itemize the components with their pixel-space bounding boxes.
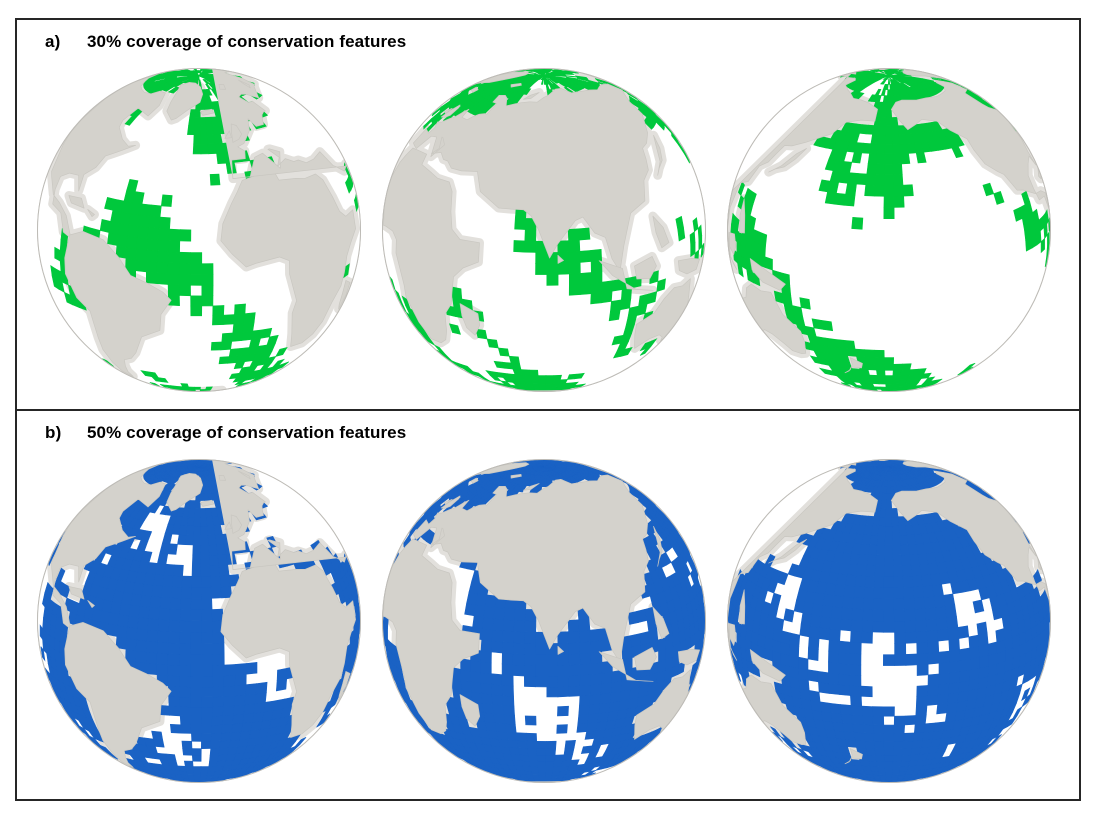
planning-unit-cell — [809, 626, 820, 639]
planning-unit-cell — [894, 598, 905, 610]
planning-unit-cell — [180, 230, 191, 242]
planning-unit-cell — [524, 643, 535, 654]
planning-unit-cell — [591, 673, 602, 685]
planning-unit-cell — [178, 535, 187, 545]
planning-unit-cell — [202, 275, 213, 286]
planning-unit-cell — [555, 755, 565, 761]
planning-unit-cell — [860, 544, 870, 555]
planning-unit-cell — [192, 566, 201, 577]
planning-unit-cell — [558, 632, 569, 644]
planning-unit-cell — [502, 685, 513, 696]
planning-unit-cell — [874, 350, 884, 357]
planning-unit-cell — [255, 692, 266, 703]
planning-unit-cell — [166, 754, 176, 761]
planning-unit-cell — [129, 214, 140, 227]
planning-unit-cell — [886, 501, 891, 509]
planning-unit-cell — [210, 755, 220, 761]
planning-unit-cell — [158, 228, 169, 240]
planning-unit-cell — [528, 748, 538, 755]
planning-unit-cell — [866, 565, 876, 576]
planning-unit-cell — [885, 555, 894, 566]
planning-unit-cell — [502, 653, 513, 665]
planning-unit-cell — [538, 376, 546, 381]
planning-unit-cell — [494, 714, 505, 724]
planning-unit-cell — [503, 631, 514, 643]
planning-unit-cell — [213, 686, 224, 697]
planning-unit-cell — [917, 642, 928, 654]
planning-unit-cell — [862, 706, 873, 716]
planning-unit-cell — [127, 627, 138, 640]
planning-unit-cell — [547, 687, 558, 697]
planning-unit-cell — [232, 332, 243, 341]
planning-unit-cell — [497, 731, 508, 740]
planning-unit-cell — [546, 380, 553, 384]
planning-unit-cell — [183, 748, 193, 755]
planning-unit-cell — [887, 487, 891, 494]
planning-unit-cell — [862, 716, 873, 725]
planning-unit-cell — [850, 675, 861, 686]
planning-unit-cell — [157, 273, 168, 285]
planning-unit-cell — [232, 723, 243, 732]
planning-unit-cell — [538, 767, 546, 772]
planning-unit-cell — [658, 638, 666, 651]
planning-unit-cell — [884, 725, 894, 733]
planning-unit-cell — [168, 676, 179, 687]
planning-unit-cell — [168, 643, 179, 655]
planning-unit-cell — [883, 487, 887, 494]
panel-b-title: 50% coverage of conservation features — [87, 423, 406, 443]
planning-unit-cell — [503, 695, 514, 706]
planning-unit-cell — [844, 340, 855, 349]
planning-unit-cell — [213, 643, 224, 655]
planning-unit-cell — [191, 306, 202, 316]
planning-unit-cell — [939, 673, 950, 685]
planning-unit-cell — [877, 535, 885, 545]
planning-unit-cell — [211, 741, 221, 749]
planning-unit-cell — [781, 631, 791, 644]
planning-unit-cell — [149, 607, 160, 619]
planning-unit-cell — [108, 233, 119, 246]
planning-unit-cell — [212, 609, 223, 621]
planning-unit-cell — [168, 665, 179, 676]
planning-unit-cell — [137, 628, 148, 641]
planning-unit-cell — [873, 598, 884, 610]
planning-unit-cell — [949, 682, 960, 694]
planning-unit-cell — [538, 761, 546, 766]
planning-unit-cell — [557, 706, 568, 716]
planning-unit-cell — [202, 632, 213, 643]
figure-frame: a) 30% coverage of conservation features… — [15, 18, 1081, 801]
planning-unit-cell — [932, 584, 943, 596]
planning-unit-cell — [937, 703, 948, 714]
planning-unit-cell — [937, 618, 948, 630]
planning-unit-cell — [168, 274, 179, 285]
planning-unit-cell — [917, 664, 928, 675]
planning-unit-cell — [529, 370, 538, 376]
planning-unit-cell — [244, 704, 255, 715]
planning-unit-cell — [494, 607, 505, 619]
planning-unit-cell — [569, 251, 580, 263]
planning-unit-cell — [187, 126, 194, 135]
planning-unit-cell — [202, 687, 213, 697]
planning-unit-cell — [884, 610, 895, 621]
planning-unit-cell — [885, 761, 893, 766]
planning-unit-cell — [158, 240, 169, 252]
planning-unit-cell — [893, 555, 902, 566]
planning-unit-cell — [513, 643, 524, 655]
planning-unit-cell — [194, 126, 201, 135]
planning-unit-cell — [591, 662, 602, 674]
planning-unit-cell — [212, 725, 223, 734]
planning-unit-cell — [118, 614, 129, 627]
planning-unit-cell — [191, 687, 202, 697]
planning-unit-cell — [866, 174, 876, 185]
planning-unit-cell — [928, 685, 939, 696]
planning-unit-cell — [855, 575, 866, 587]
planning-unit-cell — [191, 734, 201, 742]
planning-unit-cell — [202, 643, 213, 654]
planning-unit-cell — [867, 164, 877, 175]
planning-unit-cell — [168, 263, 179, 275]
planning-unit-cell — [481, 672, 492, 684]
planning-unit-cell — [169, 229, 180, 241]
planning-unit-cell — [801, 613, 812, 626]
planning-unit-cell — [492, 630, 503, 642]
planning-unit-cell — [547, 666, 558, 677]
planning-unit-cell — [148, 618, 159, 630]
planning-unit-cell — [820, 702, 831, 713]
planning-unit-cell — [201, 126, 208, 135]
planning-unit-cell — [201, 733, 211, 741]
planning-unit-cell — [894, 587, 904, 598]
planning-unit-cell — [885, 380, 892, 384]
planning-unit-cell — [893, 164, 902, 175]
planning-unit-cell — [579, 695, 590, 706]
planning-unit-cell — [157, 262, 168, 274]
planning-unit-cell — [846, 739, 857, 747]
planning-unit-cell — [192, 749, 201, 756]
planning-unit-cell — [917, 653, 928, 665]
planning-unit-cell — [904, 587, 915, 599]
planning-unit-cell — [520, 755, 530, 761]
planning-unit-cell — [133, 192, 144, 204]
planning-unit-cell — [531, 771, 539, 775]
planning-unit-cell — [224, 675, 235, 686]
planning-unit-cell — [537, 741, 547, 748]
planning-unit-cell — [179, 676, 190, 687]
planning-unit-cell — [190, 110, 196, 118]
planning-unit-cell — [461, 659, 471, 672]
planning-unit-cell — [601, 291, 612, 303]
planning-unit-cell — [201, 741, 211, 749]
planning-unit-cell — [938, 683, 949, 694]
planning-unit-cell — [185, 535, 193, 545]
planning-unit-cell — [884, 358, 893, 365]
planning-unit-cell — [830, 703, 841, 714]
planning-unit-cell — [885, 767, 893, 772]
planning-unit-cell — [591, 684, 602, 695]
planning-unit-cell — [192, 555, 201, 566]
planning-unit-cell — [244, 313, 255, 324]
planning-unit-cell — [863, 724, 874, 733]
planning-unit-cell — [481, 651, 492, 663]
planning-unit-cell — [580, 674, 591, 685]
planning-unit-cell — [514, 631, 525, 643]
planning-unit-cell — [558, 676, 569, 687]
planning-unit-cell — [854, 732, 865, 741]
planning-unit-cell — [202, 666, 213, 677]
planning-unit-cell — [191, 644, 202, 655]
planning-unit-cell — [524, 676, 535, 687]
planning-unit-cell — [885, 364, 894, 370]
planning-unit-cell — [201, 526, 208, 535]
planning-unit-cell — [846, 574, 857, 586]
planning-unit-cell — [839, 685, 850, 696]
planning-unit-cell — [841, 607, 852, 619]
planning-unit-cell — [492, 641, 503, 653]
planning-unit-cell — [179, 252, 190, 263]
planning-unit-cell — [884, 576, 894, 587]
planning-unit-cell — [879, 775, 886, 778]
planning-unit-cell — [569, 240, 580, 252]
planning-unit-cell — [949, 650, 960, 662]
planning-unit-cell — [235, 685, 246, 696]
planning-unit-cell — [878, 380, 886, 384]
planning-unit-cell — [577, 723, 588, 732]
planning-unit-cell — [850, 685, 861, 696]
panel-b-pacific-globe — [715, 445, 1063, 795]
planning-unit-cell — [118, 223, 129, 236]
planning-unit-cell — [902, 555, 912, 566]
planning-unit-cell — [170, 724, 181, 733]
planning-unit-cell — [580, 664, 591, 676]
planning-unit-cell — [553, 375, 562, 380]
planning-unit-cell — [894, 609, 905, 621]
planning-unit-cell — [219, 565, 229, 576]
planning-unit-cell — [484, 606, 495, 618]
planning-unit-cell — [906, 654, 917, 666]
planning-unit-cell — [579, 705, 590, 715]
planning-unit-cell — [831, 713, 842, 723]
planning-unit-cell — [256, 682, 267, 694]
planning-unit-cell — [879, 126, 886, 135]
planning-unit-cell — [539, 384, 546, 387]
planning-unit-cell — [139, 215, 150, 227]
planning-unit-cell — [201, 576, 211, 587]
planning-unit-cell — [146, 261, 157, 273]
planning-unit-cell — [128, 225, 139, 238]
planning-unit-cell — [883, 655, 894, 666]
planning-unit-cell — [884, 741, 894, 748]
planning-unit-cell — [808, 637, 819, 650]
planning-unit-cell — [876, 545, 885, 555]
planning-unit-cell — [829, 683, 840, 694]
planning-unit-cell — [201, 565, 211, 576]
planning-unit-cell — [213, 305, 224, 315]
planning-unit-cell — [905, 632, 916, 644]
planning-unit-cell — [472, 692, 483, 703]
planning-unit-cell — [201, 775, 208, 778]
planning-unit-cell — [191, 697, 202, 707]
planning-unit-cell — [211, 587, 222, 599]
planning-unit-cell — [532, 775, 539, 778]
planning-unit-cell — [195, 387, 201, 389]
panel-a: a) 30% coverage of conservation features — [17, 20, 1079, 409]
planning-unit-cell — [939, 651, 950, 663]
planning-unit-cell — [928, 674, 939, 685]
planning-unit-cell — [591, 282, 602, 294]
planning-unit-cell — [212, 315, 223, 325]
planning-unit-cell — [222, 724, 233, 733]
planning-unit-cell — [905, 716, 916, 725]
planning-unit-cell — [189, 117, 196, 126]
planning-unit-cell — [210, 748, 220, 755]
planning-unit-cell — [892, 117, 898, 126]
planning-unit-cell — [569, 686, 580, 697]
planning-unit-cell — [521, 370, 530, 376]
planning-unit-cell — [246, 662, 257, 674]
planning-unit-cell — [765, 257, 773, 270]
planning-unit-cell — [181, 725, 192, 734]
planning-unit-cell — [537, 755, 546, 761]
planning-unit-cell — [539, 775, 546, 778]
planning-unit-cell — [213, 696, 224, 706]
planning-unit-cell — [580, 250, 591, 262]
planning-unit-cell — [213, 665, 224, 676]
planning-unit-cell — [525, 632, 536, 644]
planning-unit-cell — [153, 574, 164, 586]
planning-unit-cell — [502, 675, 513, 686]
planning-unit-cell — [211, 342, 222, 350]
planning-unit-cell — [854, 586, 865, 598]
planning-unit-cell — [138, 617, 149, 630]
planning-unit-cell — [202, 296, 213, 306]
planning-unit-cell — [885, 135, 892, 144]
planning-unit-cell — [759, 232, 767, 246]
planning-unit-cell — [202, 716, 213, 725]
planning-unit-cell — [977, 622, 987, 635]
planning-unit-cell — [150, 205, 161, 217]
planning-unit-cell — [867, 555, 877, 566]
planning-unit-cell — [970, 646, 980, 659]
planning-unit-cell — [887, 102, 892, 109]
planning-unit-cell — [194, 135, 201, 144]
planning-unit-cell — [158, 619, 169, 631]
planning-unit-cell — [830, 618, 841, 630]
planning-unit-cell — [877, 375, 885, 380]
planning-unit-cell — [126, 247, 137, 260]
planning-unit-cell — [846, 183, 857, 195]
planning-unit-cell — [876, 761, 885, 767]
planning-unit-cell — [181, 587, 191, 598]
planning-unit-cell — [179, 285, 190, 296]
planning-unit-cell — [180, 716, 191, 725]
planning-unit-cell — [944, 594, 955, 606]
planning-unit-cell — [547, 275, 558, 286]
planning-unit-cell — [546, 749, 556, 756]
planning-unit-cell — [591, 640, 602, 652]
planning-unit-cell — [866, 748, 876, 755]
planning-unit-cell — [193, 767, 201, 772]
planning-unit-cell — [169, 240, 180, 252]
planning-unit-cell — [611, 681, 622, 693]
planning-unit-cell — [212, 716, 223, 725]
planning-unit-cell — [886, 126, 893, 135]
planning-unit-cell — [844, 731, 855, 740]
pacific-globe-svg — [715, 445, 1063, 795]
planning-unit-cell — [885, 771, 892, 775]
planning-unit-cell — [885, 164, 894, 175]
planning-unit-cell — [876, 164, 885, 175]
planning-unit-cell — [546, 775, 553, 778]
planning-unit-cell — [546, 384, 553, 387]
planning-unit-cell — [904, 733, 915, 741]
planning-unit-cell — [513, 665, 524, 676]
planning-unit-cell — [536, 264, 547, 275]
planning-unit-cell — [492, 694, 503, 705]
planning-unit-cell — [245, 694, 256, 705]
planning-unit-cell — [917, 685, 928, 696]
planning-unit-cell — [147, 630, 158, 642]
planning-unit-cell — [503, 705, 514, 715]
planning-unit-cell — [234, 705, 245, 715]
planning-unit-cell — [481, 640, 492, 652]
planning-unit-cell — [835, 193, 846, 205]
planning-unit-cell — [536, 655, 547, 666]
planning-unit-cell — [180, 632, 191, 644]
planning-unit-cell — [504, 715, 515, 725]
planning-unit-cell — [927, 630, 938, 642]
planning-unit-cell — [546, 741, 556, 749]
planning-unit-cell — [884, 598, 894, 609]
planning-unit-cell — [945, 605, 956, 618]
planning-unit-cell — [492, 684, 503, 695]
planning-unit-cell — [137, 237, 148, 250]
planning-unit-cell — [892, 508, 898, 517]
planning-unit-cell — [180, 609, 191, 621]
planning-unit-cell — [874, 733, 884, 741]
planning-unit-cell — [892, 380, 900, 384]
planning-unit-cell — [887, 493, 892, 500]
planning-unit-cell — [928, 652, 939, 664]
planning-unit-cell — [235, 674, 246, 685]
planning-unit-cell — [168, 654, 179, 666]
planning-unit-cell — [529, 761, 538, 767]
planning-unit-cell — [178, 766, 187, 771]
planning-unit-cell — [223, 315, 234, 325]
planning-unit-cell — [948, 627, 959, 640]
panel-b-globes — [17, 445, 1079, 795]
planning-unit-cell — [887, 96, 891, 103]
planning-unit-cell — [947, 616, 958, 629]
planning-unit-cell — [903, 576, 913, 587]
planning-unit-cell — [179, 643, 190, 654]
planning-unit-cell — [516, 733, 527, 741]
planning-unit-cell — [180, 621, 191, 633]
planning-unit-cell — [808, 670, 818, 682]
planning-unit-cell — [126, 258, 137, 270]
planning-unit-cell — [140, 204, 151, 216]
planning-unit-cell — [852, 715, 863, 725]
planning-unit-cell — [894, 196, 904, 207]
planning-unit-cell — [485, 595, 496, 607]
planning-unit-cell — [885, 144, 893, 154]
planning-unit-cell — [871, 134, 879, 144]
planning-unit-cell — [202, 725, 213, 734]
planning-unit-cell — [161, 586, 172, 598]
planning-unit-cell — [201, 517, 208, 526]
planning-unit-cell — [902, 565, 912, 576]
